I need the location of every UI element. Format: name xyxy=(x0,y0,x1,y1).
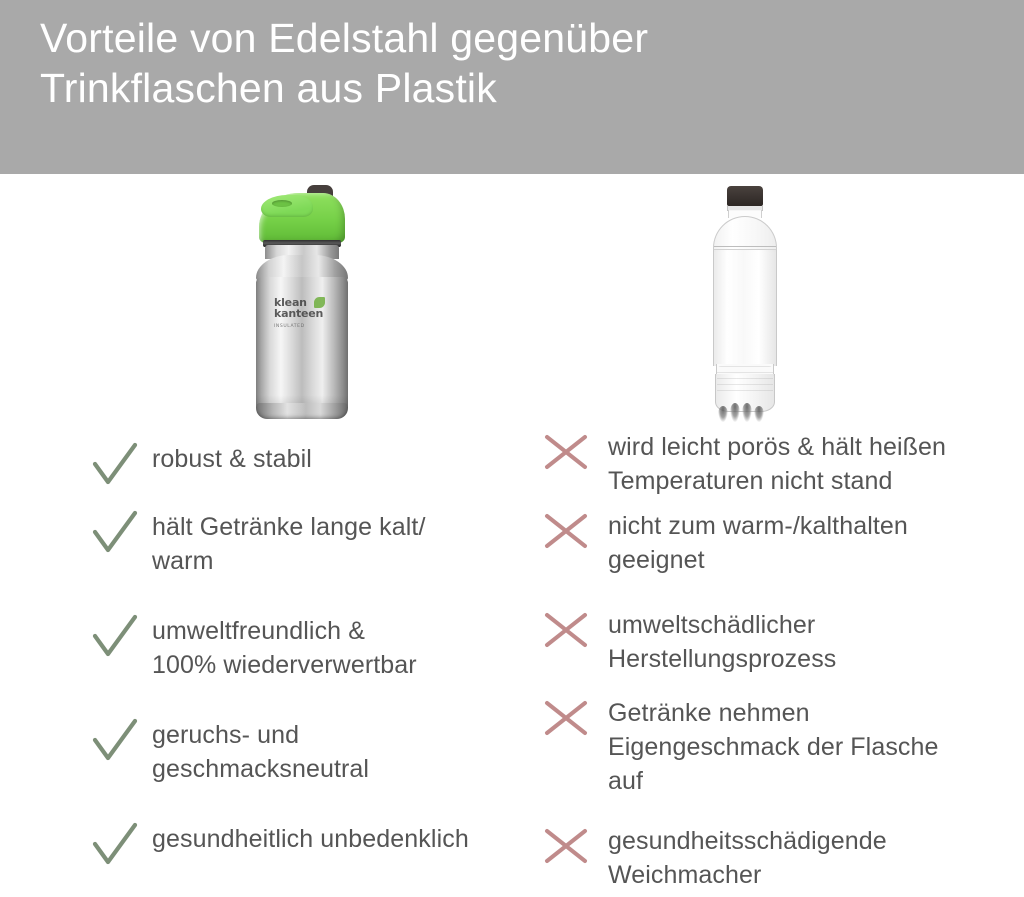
plastic-bottle-label-edge xyxy=(714,249,776,250)
check-icon xyxy=(88,816,144,872)
check-icon xyxy=(88,608,144,664)
list-item: geruchs- und geschmacksneutral xyxy=(88,716,540,786)
cross-icon xyxy=(538,690,594,746)
plastic-bottle-body xyxy=(713,250,777,366)
list-item: hält Getränke lange kalt/ warm xyxy=(88,508,540,578)
list-item: gesundheitlich unbedenklich xyxy=(88,820,540,872)
plastic-bottle-image xyxy=(706,186,784,422)
steel-bottle-image: klean kanteen INSULATED xyxy=(248,185,356,422)
con-item-text: wird leicht porös & hält heißen Temperat… xyxy=(608,428,946,498)
list-item: umweltschädlicher Herstellungsprozess xyxy=(538,606,1018,676)
list-item: gesundheitsschädigende Weichmacher xyxy=(538,822,1018,892)
plastic-bottle-base-foot xyxy=(754,406,764,422)
plastic-bottle-base-foot xyxy=(742,403,752,422)
pro-item-text: gesundheitlich unbedenklich xyxy=(152,820,469,856)
plastic-bottle-ribs xyxy=(717,366,773,396)
cross-icon xyxy=(538,503,594,559)
pro-item-text: umweltfreundlich & 100% wiederverwertbar xyxy=(152,612,417,682)
plastic-bottle-base-foot xyxy=(730,403,740,422)
bottle-comparison-images: klean kanteen INSULATED xyxy=(0,174,1024,422)
list-item: wird leicht porös & hält heißen Temperat… xyxy=(538,428,1018,498)
plastic-bottle-label-edge xyxy=(714,246,776,247)
brand-subtitle: INSULATED xyxy=(274,321,332,332)
con-item-text: umweltschädlicher Herstellungsprozess xyxy=(608,606,836,676)
cross-icon xyxy=(538,424,594,480)
list-item: Getränke nehmen Eigengeschmack der Flasc… xyxy=(538,694,1018,798)
check-icon xyxy=(88,712,144,768)
page-title: Vorteile von Edelstahl gegenüber Trinkfl… xyxy=(40,13,940,113)
header-band: Vorteile von Edelstahl gegenüber Trinkfl… xyxy=(0,0,1024,174)
con-column: wird leicht porös & hält heißen Temperat… xyxy=(538,422,1018,897)
con-item-text: gesundheitsschädigende Weichmacher xyxy=(608,822,887,892)
pro-item-text: hält Getränke lange kalt/ warm xyxy=(152,508,426,578)
con-item-text: Getränke nehmen Eigengeschmack der Flasc… xyxy=(608,694,939,798)
list-item: umweltfreundlich & 100% wiederverwertbar xyxy=(88,612,540,682)
pro-column: robust & stabil hält Getränke lange kalt… xyxy=(88,422,540,897)
plastic-bottle-base-foot xyxy=(718,406,728,422)
cross-icon xyxy=(538,602,594,658)
list-item: nicht zum warm-/kalthalten geeignet xyxy=(538,507,1018,577)
check-icon xyxy=(88,436,144,492)
list-item: robust & stabil xyxy=(88,440,540,492)
con-item-text: nicht zum warm-/kalthalten geeignet xyxy=(608,507,908,577)
plastic-bottle-cap xyxy=(727,186,763,206)
pro-item-text: robust & stabil xyxy=(152,440,312,476)
check-icon xyxy=(88,504,144,560)
steel-bottle-loop-hole xyxy=(272,200,292,207)
cross-icon xyxy=(538,818,594,874)
steel-bottle-base xyxy=(256,403,348,419)
pro-item-text: geruchs- und geschmacksneutral xyxy=(152,716,369,786)
comparison-columns: robust & stabil hält Getränke lange kalt… xyxy=(0,422,1024,897)
leaf-icon xyxy=(314,297,325,308)
